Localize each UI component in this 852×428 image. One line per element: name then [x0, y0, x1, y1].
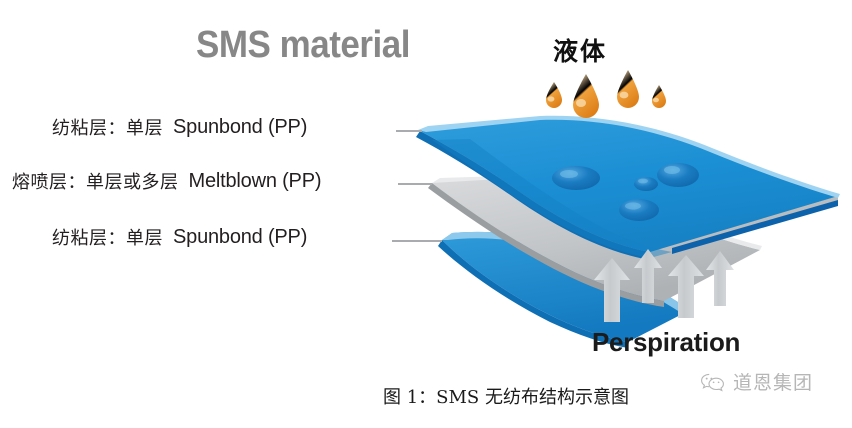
- liquid-droplets: [546, 70, 666, 118]
- meltblown-layer: [428, 176, 762, 307]
- layer-label-cn: 熔喷层：单层或多层: [12, 168, 179, 194]
- wechat-icon: [700, 372, 726, 392]
- sms-layer-illustration: [0, 0, 852, 428]
- layer-label-en: Meltblown (PP): [189, 170, 322, 193]
- figure-caption: 图 1：SMS 无纺布结构示意图: [383, 383, 629, 409]
- watermark-text: 道恩集团: [733, 368, 813, 395]
- layer-label-cn: 纺粘层：单层: [52, 224, 163, 250]
- layer-label-meltblown: 熔喷层：单层或多层 Meltblown (PP): [12, 168, 321, 194]
- leader-line-spunbond-top: [396, 130, 422, 132]
- page-title: SMS material: [196, 24, 410, 67]
- layer-label-en: Spunbond (PP): [173, 116, 307, 139]
- top-spunbond-layer: [416, 116, 840, 260]
- leader-line-meltblown: [398, 183, 432, 185]
- layer-label-cn: 纺粘层：单层: [52, 114, 163, 140]
- perspiration-arrows: [594, 249, 734, 322]
- layer-label-en: Spunbond (PP): [173, 226, 307, 249]
- figure-canvas: SMS material 纺粘层：单层 Spunbond (PP) 熔喷层：单层…: [0, 0, 852, 428]
- leader-line-spunbond-bottom: [392, 240, 442, 242]
- liquid-label: 液体: [553, 32, 607, 68]
- watermark: 道恩集团: [700, 368, 813, 395]
- layer-label-spunbond-top: 纺粘层：单层 Spunbond (PP): [52, 114, 307, 140]
- perspiration-label: Perspiration: [592, 327, 740, 358]
- layer-label-spunbond-bottom: 纺粘层：单层 Spunbond (PP): [52, 224, 307, 250]
- water-beads: [552, 163, 699, 221]
